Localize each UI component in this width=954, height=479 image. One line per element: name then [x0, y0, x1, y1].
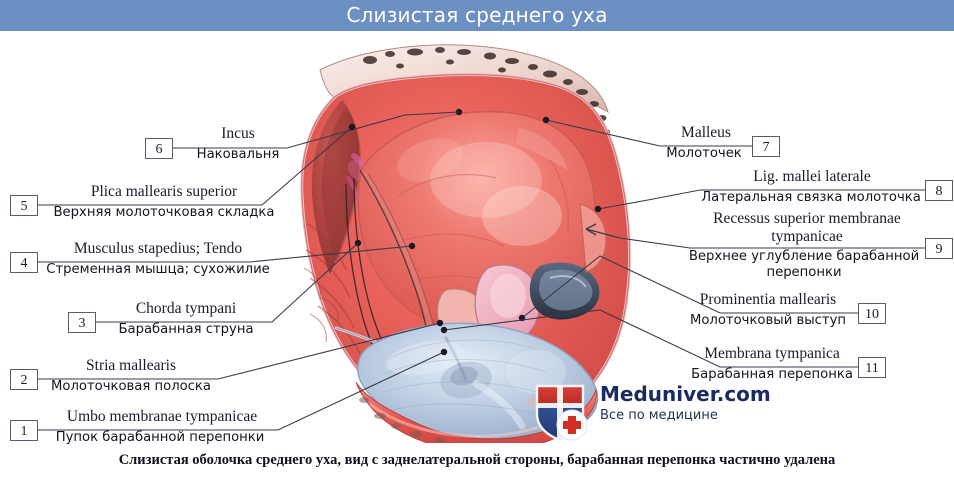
- label-latin-lig-mallei-laterale: Lig. mallei laterale: [700, 168, 924, 185]
- label-latin-musculus-stapedius: Musculus stapedius; Tendo: [44, 240, 272, 257]
- label-number-6[interactable]: 6: [145, 138, 173, 159]
- label-latin-recessus-superior-line1: Recessus superior membranae: [690, 210, 924, 227]
- label-russian-lig-mallei-laterale: Латеральная связка молоточка: [696, 190, 926, 206]
- label-latin-chorda-tympani: Chorda tympani: [102, 300, 270, 317]
- label-number-8[interactable]: 8: [925, 180, 953, 201]
- label-number-11[interactable]: 11: [858, 357, 886, 378]
- label-number-4[interactable]: 4: [10, 252, 38, 273]
- watermark-tagline: Все по медицине: [600, 408, 718, 423]
- label-russian-malleus: Молоточек: [652, 146, 756, 162]
- anatomy-figure-page: Слизистая среднего уха: [0, 0, 954, 479]
- label-russian-stria-mallearis: Молоточковая полоска: [36, 379, 226, 395]
- label-latin-prominentia-mallearis: Prominentia mallearis: [680, 291, 856, 308]
- label-russian-recessus-superior-line2: перепонки: [686, 265, 922, 281]
- label-russian-recessus-superior-line1: Верхнее углубление барабанной: [686, 249, 922, 265]
- label-number-10[interactable]: 10: [858, 303, 886, 324]
- label-latin-stria-mallearis: Stria mallearis: [44, 357, 218, 374]
- label-number-3[interactable]: 3: [68, 312, 96, 333]
- figure-caption: Слизистая оболочка среднего уха, вид с з…: [0, 452, 954, 469]
- label-number-2[interactable]: 2: [10, 369, 38, 390]
- label-latin-plica-mallearis-superior: Plica mallearis superior: [44, 183, 284, 200]
- label-russian-incus: Наковальня: [170, 147, 306, 163]
- watermark-brand: Meduniver.com: [600, 382, 771, 406]
- label-latin-incus: Incus: [178, 125, 298, 142]
- label-latin-membrana-tympanica: Membrana tympanica: [688, 345, 856, 362]
- label-russian-prominentia-mallearis: Молоточковый выступ: [682, 313, 854, 329]
- label-number-1[interactable]: 1: [10, 420, 38, 441]
- label-number-5[interactable]: 5: [10, 195, 38, 216]
- label-number-9[interactable]: 9: [925, 238, 953, 259]
- label-russian-musculus-stapedius: Стременная мышца; сухожилие: [38, 262, 278, 278]
- label-russian-plica-mallearis-superior: Верхняя молоточковая складка: [40, 205, 288, 221]
- label-latin-malleus: Malleus: [660, 124, 752, 141]
- label-latin-umbo-membranae-tympanicae: Umbo membranae tympanicae: [42, 408, 282, 425]
- label-latin-recessus-superior-line2: tympanicae: [690, 228, 924, 245]
- page-title: Слизистая среднего уха: [0, 0, 954, 31]
- label-number-7[interactable]: 7: [752, 136, 780, 157]
- meduniver-watermark[interactable]: Meduniver.com Все по медицине: [527, 378, 777, 444]
- title-bar: Слизистая среднего уха: [0, 0, 954, 31]
- label-russian-umbo-membranae-tympanicae: Пупок барабанной перепонки: [38, 430, 282, 446]
- label-russian-chorda-tympani: Барабанная струна: [96, 322, 276, 338]
- shield-logo-icon: [527, 378, 593, 444]
